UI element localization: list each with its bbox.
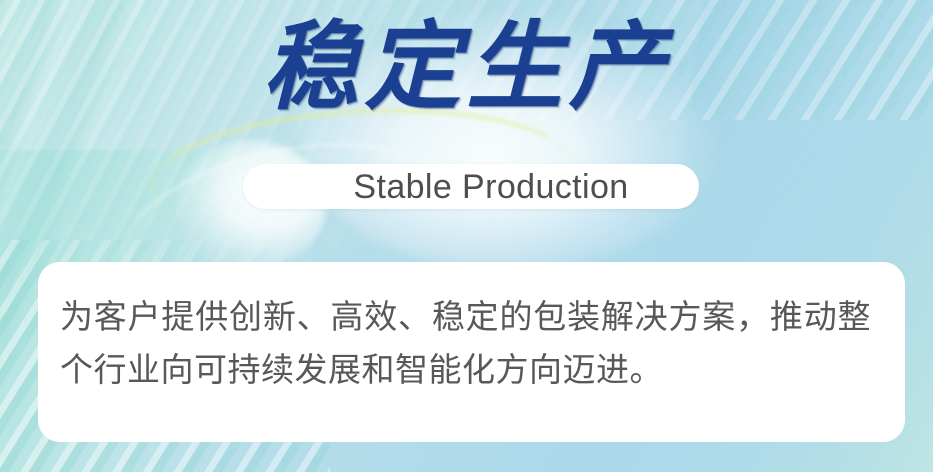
- description-text: 为客户提供创新、高效、稳定的包装解决方案，推动整个行业向可持续发展和智能化方向迈…: [50, 290, 871, 396]
- description-card: 为客户提供创新、高效、稳定的包装解决方案，推动整个行业向可持续发展和智能化方向迈…: [38, 262, 905, 442]
- banner-content: 稳定生产 Stable Production 为客户提供创新、高效、稳定的包装解…: [0, 0, 933, 472]
- subtitle-text: Stable Production: [313, 170, 628, 204]
- headline-title: 稳定生产: [0, 14, 933, 122]
- subtitle-pill: Stable Production: [243, 164, 699, 209]
- stable-production-banner: 稳定生产 Stable Production 为客户提供创新、高效、稳定的包装解…: [0, 0, 933, 472]
